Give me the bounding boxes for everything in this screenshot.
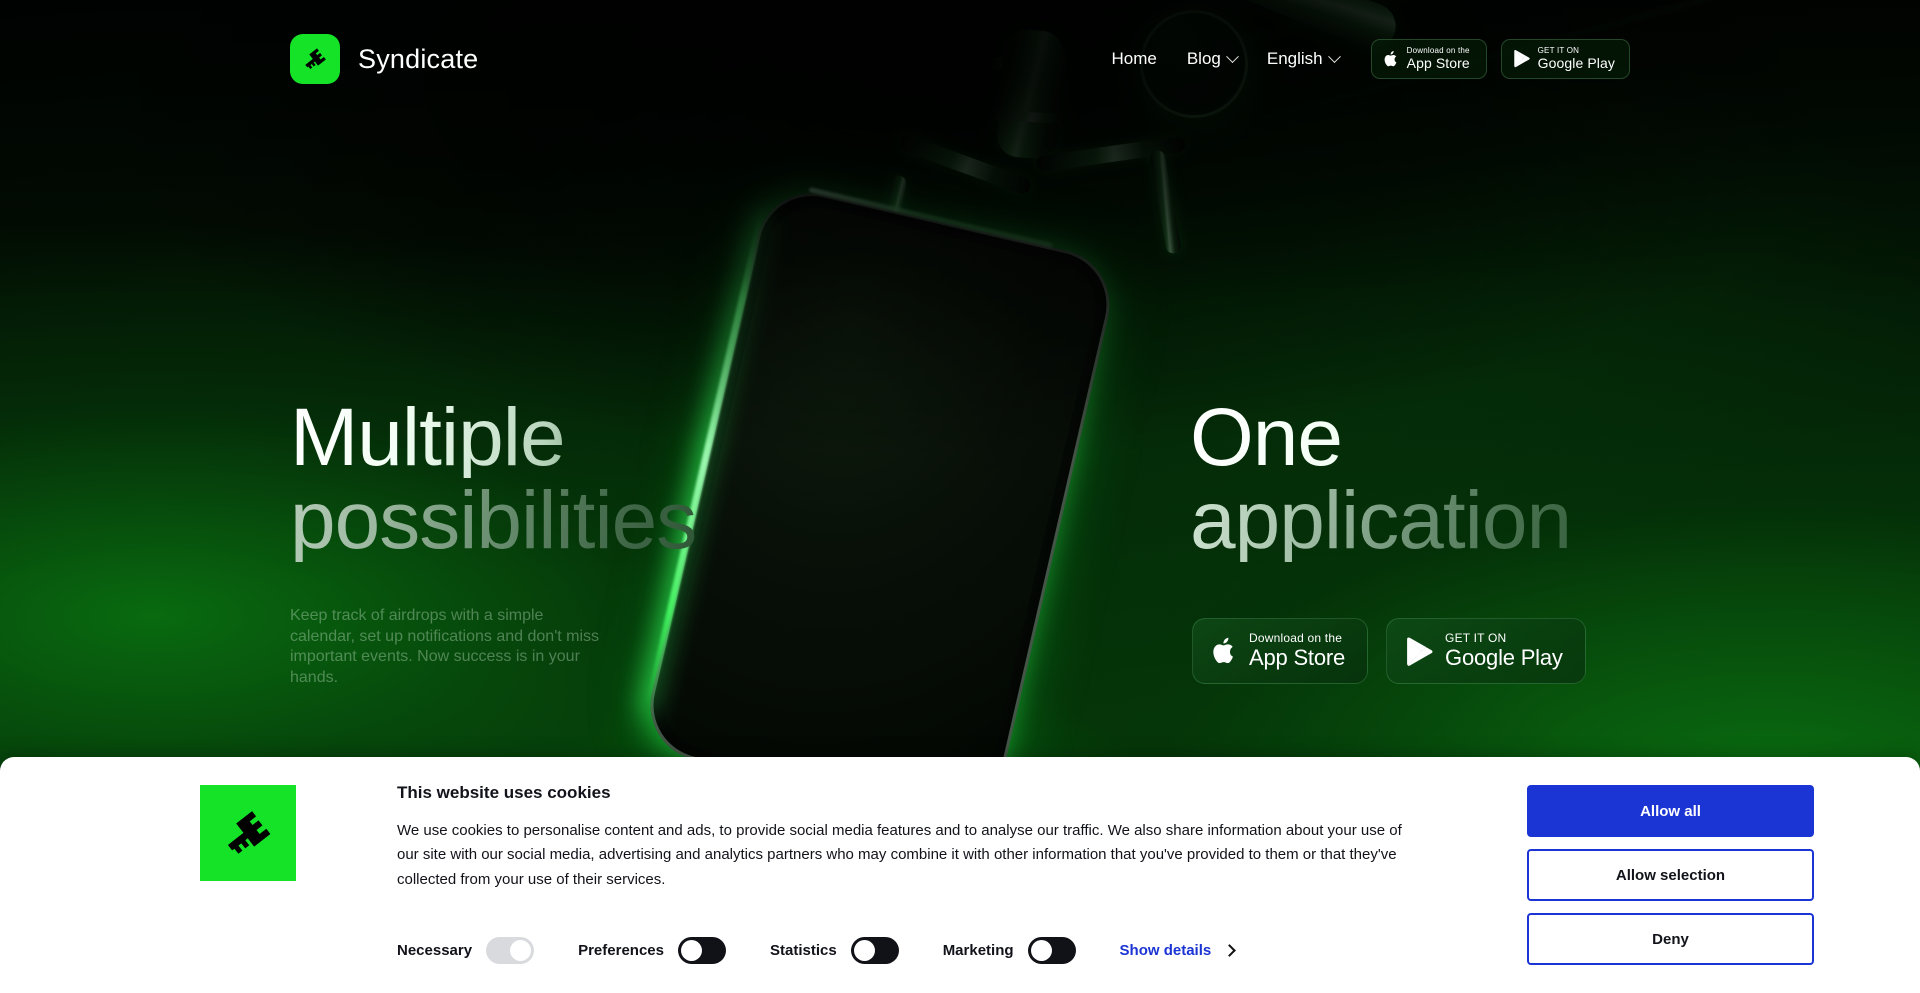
- syndicate-key-logo-icon: [200, 785, 296, 881]
- toggle-label: Marketing: [943, 942, 1014, 959]
- hero-headline-line3: One: [1190, 398, 1586, 478]
- show-details-label: Show details: [1120, 942, 1212, 959]
- main-nav: Home Blog English: [1111, 49, 1338, 69]
- syndicate-key-logo-icon: [290, 34, 340, 84]
- brand-name: Syndicate: [358, 44, 478, 75]
- toggle-label: Statistics: [770, 942, 837, 959]
- hero-right-block: One application Download on the App Stor…: [1190, 398, 1586, 684]
- cookie-consent-banner: Cookiebot by Usercentrics This website u…: [0, 757, 1920, 993]
- toggle-group-statistics: Statistics: [770, 937, 899, 964]
- toggle-knob: [681, 940, 702, 961]
- toggle-group-necessary: Necessary: [397, 937, 534, 964]
- cookie-action-buttons: Allow all Allow selection Deny: [1527, 785, 1814, 965]
- cta-small-label: GET IT ON: [1445, 632, 1563, 645]
- cookie-banner-title: This website uses cookies: [397, 783, 1427, 803]
- hero-cta-group: Download on the App Store GET IT ON Goog…: [1192, 618, 1586, 684]
- nav-label: Blog: [1187, 49, 1221, 69]
- hero-google-play-button[interactable]: GET IT ON Google Play: [1386, 618, 1586, 684]
- header-google-play-button[interactable]: GET IT ON Google Play: [1501, 39, 1630, 78]
- cta-small-label: Download on the: [1249, 632, 1345, 645]
- cookie-category-toggles: Necessary Preferences Statistics Marketi…: [397, 937, 1234, 964]
- badge-big-label: App Store: [1407, 56, 1470, 71]
- site-header: Syndicate Home Blog English Download on: [0, 0, 1920, 118]
- cta-big-label: App Store: [1249, 646, 1345, 671]
- brand-logo[interactable]: Syndicate: [290, 34, 478, 84]
- hero-app-store-button[interactable]: Download on the App Store: [1192, 618, 1368, 684]
- header-app-store-button[interactable]: Download on the App Store: [1371, 39, 1487, 78]
- header-store-badges: Download on the App Store GET IT ON Goog…: [1371, 39, 1630, 78]
- page-root: Syndicate Home Blog English Download on: [0, 0, 1920, 993]
- nav-item-blog[interactable]: Blog: [1187, 49, 1237, 69]
- nav-item-home[interactable]: Home: [1111, 49, 1156, 69]
- toggle-group-preferences: Preferences: [578, 937, 726, 964]
- hero-subtitle: Keep track of airdrops with a simple cal…: [290, 606, 600, 688]
- show-details-link[interactable]: Show details: [1120, 942, 1235, 959]
- hero-headline-line2: possibilities: [290, 480, 696, 562]
- chevron-down-icon: [1226, 50, 1239, 63]
- toggle-marketing[interactable]: [1028, 937, 1076, 964]
- toggle-preferences[interactable]: [678, 937, 726, 964]
- allow-all-button[interactable]: Allow all: [1527, 785, 1814, 837]
- toggle-knob: [854, 940, 875, 961]
- hero-left-block: Multiple possibilities Keep track of air…: [290, 398, 696, 688]
- nav-item-language[interactable]: English: [1267, 49, 1339, 69]
- chevron-right-icon: [1223, 944, 1236, 957]
- cookie-banner-body: This website uses cookies We use cookies…: [397, 783, 1427, 892]
- apple-icon: [1211, 636, 1237, 666]
- toggle-group-marketing: Marketing: [943, 937, 1076, 964]
- nav-label: Home: [1111, 49, 1156, 69]
- cookie-banner-text: We use cookies to personalise content an…: [397, 819, 1427, 892]
- hero-headline-line1: Multiple: [290, 398, 696, 478]
- toggle-necessary: [486, 937, 534, 964]
- chevron-down-icon: [1328, 50, 1341, 63]
- cookie-banner-brand: [200, 785, 300, 881]
- badge-big-label: Google Play: [1538, 56, 1615, 71]
- toggle-label: Preferences: [578, 942, 664, 959]
- nav-label: English: [1267, 49, 1323, 69]
- deny-button[interactable]: Deny: [1527, 913, 1814, 965]
- allow-selection-button[interactable]: Allow selection: [1527, 849, 1814, 901]
- toggle-knob: [1031, 940, 1052, 961]
- cta-big-label: Google Play: [1445, 646, 1563, 671]
- apple-icon: [1383, 50, 1399, 68]
- hero-headline-line4: application: [1190, 480, 1586, 562]
- toggle-knob: [510, 940, 531, 961]
- toggle-label: Necessary: [397, 942, 472, 959]
- toggle-statistics[interactable]: [851, 937, 899, 964]
- google-play-icon: [1513, 49, 1530, 68]
- google-play-icon: [1405, 636, 1433, 667]
